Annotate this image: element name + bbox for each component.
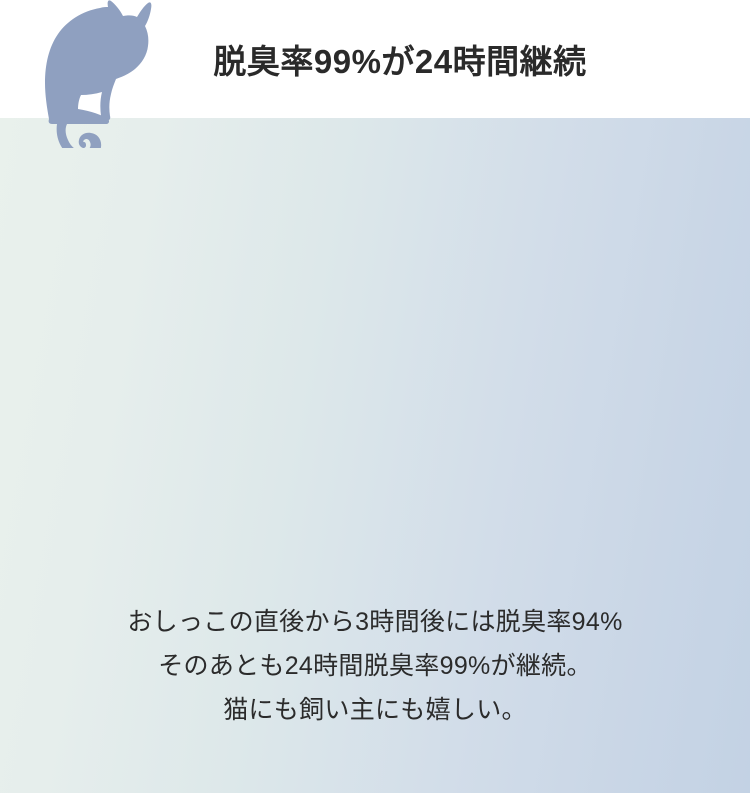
page-title: 脱臭率99%が24時間継続 — [0, 0, 750, 118]
footer-line-3: 猫にも飼い主にも嬉しい。 — [0, 688, 750, 732]
page-header: 脱臭率99%が24時間継続 — [0, 0, 750, 118]
footer-line-2: そのあとも24時間脱臭率99%が継続。 — [0, 644, 750, 688]
footer-copy: おしっこの直後から3時間後には脱臭率94% そのあとも24時間脱臭率99%が継続… — [0, 600, 750, 732]
promo-page: 脱臭率99%が24時間継続 - 脱臭率検証グラフ - - 試験結果 - 脱臭率の… — [0, 0, 750, 793]
footer-line-1: おしっこの直後から3時間後には脱臭率94% — [0, 600, 750, 644]
